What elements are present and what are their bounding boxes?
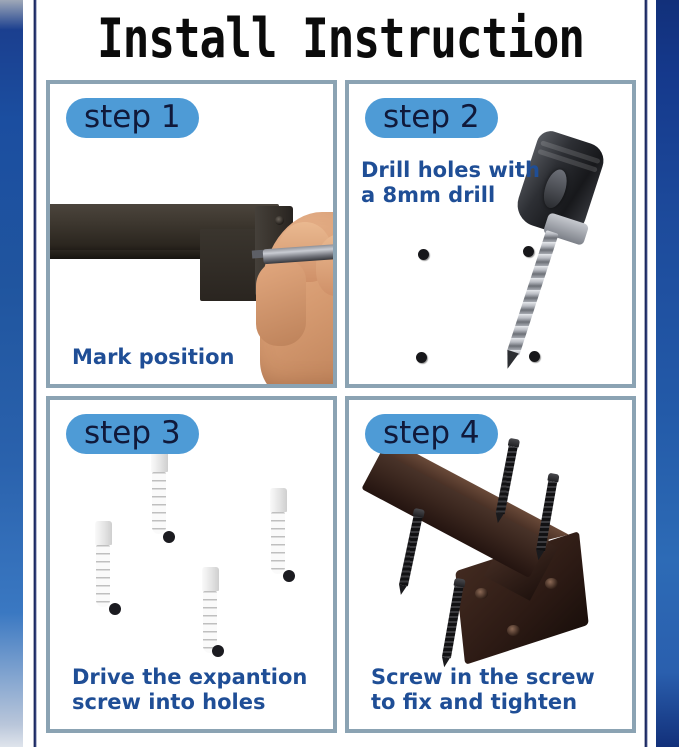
plate-hole-icon [275,216,284,225]
step-badge-label: step 1 [84,100,181,134]
step-caption-3: Drive the expantion screw into holes [72,665,323,715]
drilled-hole-icon [109,603,121,615]
anchor-body-icon [203,591,217,653]
drilled-hole-icon [418,249,429,260]
page-title: Install Instruction [46,2,635,74]
anchor-body-icon [96,545,110,607]
left-border-rule [33,0,37,747]
step-badge-2: step 2 [365,98,498,138]
plate-hole-icon [475,588,488,599]
drilled-hole-icon [523,246,534,257]
step-badge-1: step 1 [66,98,199,138]
step-panel-3: step 3 Drive the expantion screw into ho… [46,396,337,733]
step-panel-1: step 1 Mark position [46,80,337,388]
bracket-arm-icon [361,450,549,578]
wall-anchor-icon [202,567,219,653]
drilled-hole-icon [163,531,175,543]
page-title-text: Install Instruction [97,6,584,70]
anchor-body-icon [271,512,285,574]
thumb-icon [256,260,306,346]
screw-shaft-icon [496,446,518,514]
step-badge-label: step 4 [383,416,480,450]
drilled-hole-icon [283,570,295,582]
instruction-poster: Install Instruction step 1 [0,0,679,747]
step-badge-4: step 4 [365,414,498,454]
wall-anchor-icon [270,488,287,574]
plate-hole-icon [545,578,558,589]
right-border-rule [644,0,648,747]
drilled-hole-icon [212,645,224,657]
wall-anchor-icon [151,448,168,534]
left-border-stripe [0,0,23,747]
drilled-hole-icon [529,351,540,362]
step-badge-3: step 3 [66,414,199,454]
plate-hole-icon [507,625,520,636]
screw-shaft-icon [399,516,422,586]
step-caption-1: Mark position [72,345,323,370]
anchor-body-icon [152,472,166,534]
step-panel-4: step 4 Screw in the screw to fix and tig… [345,396,636,733]
anchor-head-icon [270,488,287,512]
screw-tip-icon [534,550,544,561]
anchor-head-icon [202,567,219,591]
steps-grid: step 1 Mark position step 2 [46,80,636,733]
anchor-head-icon [95,521,112,545]
step-caption-2: Drill holes with a 8mm drill [361,158,571,208]
step-badge-label: step 2 [383,100,480,134]
wall-anchor-icon [95,521,112,607]
screw-icon [396,508,425,596]
drilled-hole-icon [416,352,427,363]
step-badge-label: step 3 [84,416,181,450]
step-caption-4: Screw in the screw to fix and tighten [371,665,622,715]
right-border-stripe [656,0,679,747]
screw-tip-icon [397,584,407,595]
step-panel-2: step 2 Drill holes with a 8mm drill [345,80,636,388]
screw-tip-icon [494,513,504,524]
